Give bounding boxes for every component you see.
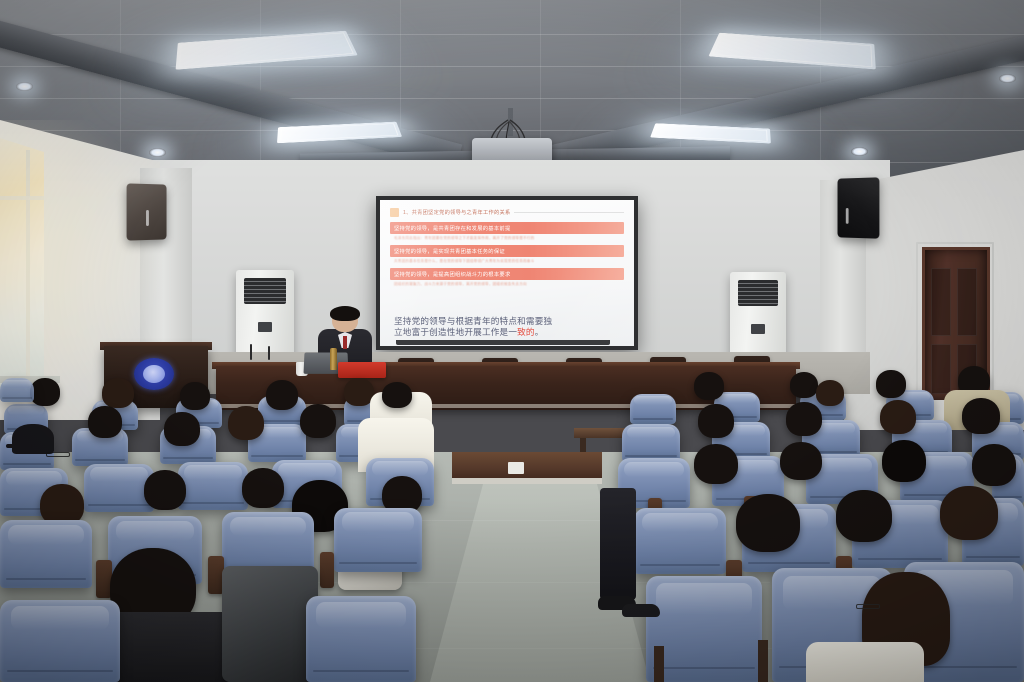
slide-title: 1、共青团坚定党的领导与之青年工作的关系 [403, 209, 510, 216]
slide-conclusion-line-2: 立地富于创造性地开展工作是一致的。 [394, 327, 620, 338]
auditorium-seat[interactable] [0, 600, 120, 682]
audience-head [962, 398, 1000, 434]
slide-title-rule [514, 212, 624, 213]
air-conditioner-display [258, 322, 272, 332]
audience-head [876, 370, 906, 398]
slide-banner-heading: 坚持党的领导，是提高团组织战斗力的根本要求 [390, 268, 624, 280]
air-conditioner-grille [244, 278, 286, 304]
audience-head [790, 372, 818, 398]
auditorium-seat[interactable] [0, 520, 92, 588]
audience-head [300, 404, 336, 438]
slide-conclusion-prefix: 立地富于创造性地开展工作是一 [394, 327, 517, 337]
seat-leg [758, 640, 768, 682]
window [0, 138, 44, 388]
slide-banner-heading: 坚持党的领导，是共青团存在和发展的基本前提 [390, 222, 624, 234]
wall-outlet [508, 462, 524, 474]
projection-screen: 1、共青团坚定党的领导与之青年工作的关系 坚持党的领导，是共青团存在和发展的基本… [380, 200, 634, 346]
slide-title-marker-icon [390, 208, 399, 217]
slide-conclusion-highlight: 致的 [517, 327, 535, 337]
slide-conclusion-suffix: 。 [535, 327, 544, 337]
auditorium-seat[interactable] [634, 508, 726, 574]
ceiling-downlight [16, 82, 33, 91]
audience-head [780, 442, 822, 480]
auditorium-seat[interactable] [622, 424, 680, 462]
slide-banner-subtext: 团组织的凝聚力、战斗力来源于党的领导，离开党的领导，团组织就会失去方向 [390, 282, 624, 287]
slide-banner-heading: 坚持党的领导，是实现共青团基本任务的保证 [390, 245, 624, 257]
audience-head [882, 440, 926, 482]
shoe [622, 604, 660, 617]
auditorium-seat[interactable] [306, 596, 416, 682]
auditorium-seat[interactable] [0, 378, 34, 402]
audience-eyeglasses-icon [856, 604, 880, 609]
audience-head [836, 490, 892, 542]
lecture-hall-photo: 1、共青团坚定党的领导与之青年工作的关系 坚持党的领导，是共青团存在和发展的基本… [0, 0, 1024, 682]
audience-baseball-cap [12, 424, 54, 454]
slide-title-row: 1、共青团坚定党的领导与之青年工作的关系 [390, 206, 624, 218]
ceiling-downlight [851, 147, 868, 156]
presenter-hair [330, 306, 360, 321]
audience-head [228, 406, 264, 440]
audience-head [164, 412, 200, 446]
audience-head [30, 378, 60, 406]
audience-head [242, 468, 284, 508]
standing-person-legs [600, 488, 636, 600]
audience-head [144, 470, 186, 510]
window-mullion [26, 150, 30, 386]
auditorium-seat[interactable] [630, 394, 676, 424]
audience-head [816, 380, 844, 406]
audience-cap-brim [6, 444, 32, 448]
presenter-tie [343, 336, 347, 349]
slide-conclusion-line-1: 坚持党的领导与根据青年的特点和需要独 [394, 316, 620, 327]
audience-head [266, 380, 298, 410]
audience-head [940, 486, 998, 540]
audience-head [180, 382, 210, 410]
audience-head [694, 372, 724, 400]
audience-white-top [806, 642, 924, 682]
grey-backpack [222, 566, 318, 682]
audience-head [736, 494, 800, 552]
wall-speaker-left [127, 183, 167, 240]
nameplate [338, 362, 386, 378]
auditorium-seat[interactable] [178, 462, 248, 510]
audience-head [88, 406, 122, 438]
presentation-slide: 1、共青团坚定党的领导与之青年工作的关系 坚持党的领导，是共青团存在和发展的基本… [390, 206, 624, 340]
microphone [250, 344, 252, 360]
water-bottle [330, 348, 337, 370]
microphone [268, 346, 270, 360]
audience-eyeglasses-icon [46, 452, 70, 457]
audience-head [880, 400, 916, 434]
slide-banner-subtext: 共青团的基本任务是什么，是在党的领导下团结带领广大青年为实现党的任务而奋斗 [390, 259, 624, 264]
seat-leg [654, 646, 664, 682]
audience-head [102, 378, 134, 408]
audience-head [694, 444, 738, 484]
screen-bottom-bar [396, 340, 610, 345]
projection-screen-frame: 1、共青团坚定党的领导与之青年工作的关系 坚持党的领导，是共青团存在和发展的基本… [376, 196, 638, 350]
ceiling-downlight [149, 148, 166, 157]
slide-conclusion: 坚持党的领导与根据青年的特点和需要独 立地富于创造性地开展工作是一致的。 [394, 316, 620, 338]
stage-front-wainscot [452, 452, 602, 480]
audience-head [698, 404, 734, 438]
window-frame-rail [0, 196, 44, 200]
audience-head [972, 444, 1016, 486]
stage-front-baseboard [452, 478, 602, 484]
wall-speaker-right [838, 177, 880, 238]
slide-banner-subtext: 毛泽东同志指出：青年团要在党的领导之下才能发挥作用，离开了党的领导是不行的 [390, 236, 624, 241]
audience-head [382, 382, 412, 408]
seat-armrest [320, 552, 334, 588]
air-conditioner-display [751, 324, 765, 334]
auditorium-seat[interactable] [334, 508, 422, 572]
university-emblem-icon [134, 358, 174, 390]
ceiling-downlight [999, 74, 1016, 83]
air-conditioner-grille [738, 280, 778, 306]
audience-head [786, 402, 822, 436]
